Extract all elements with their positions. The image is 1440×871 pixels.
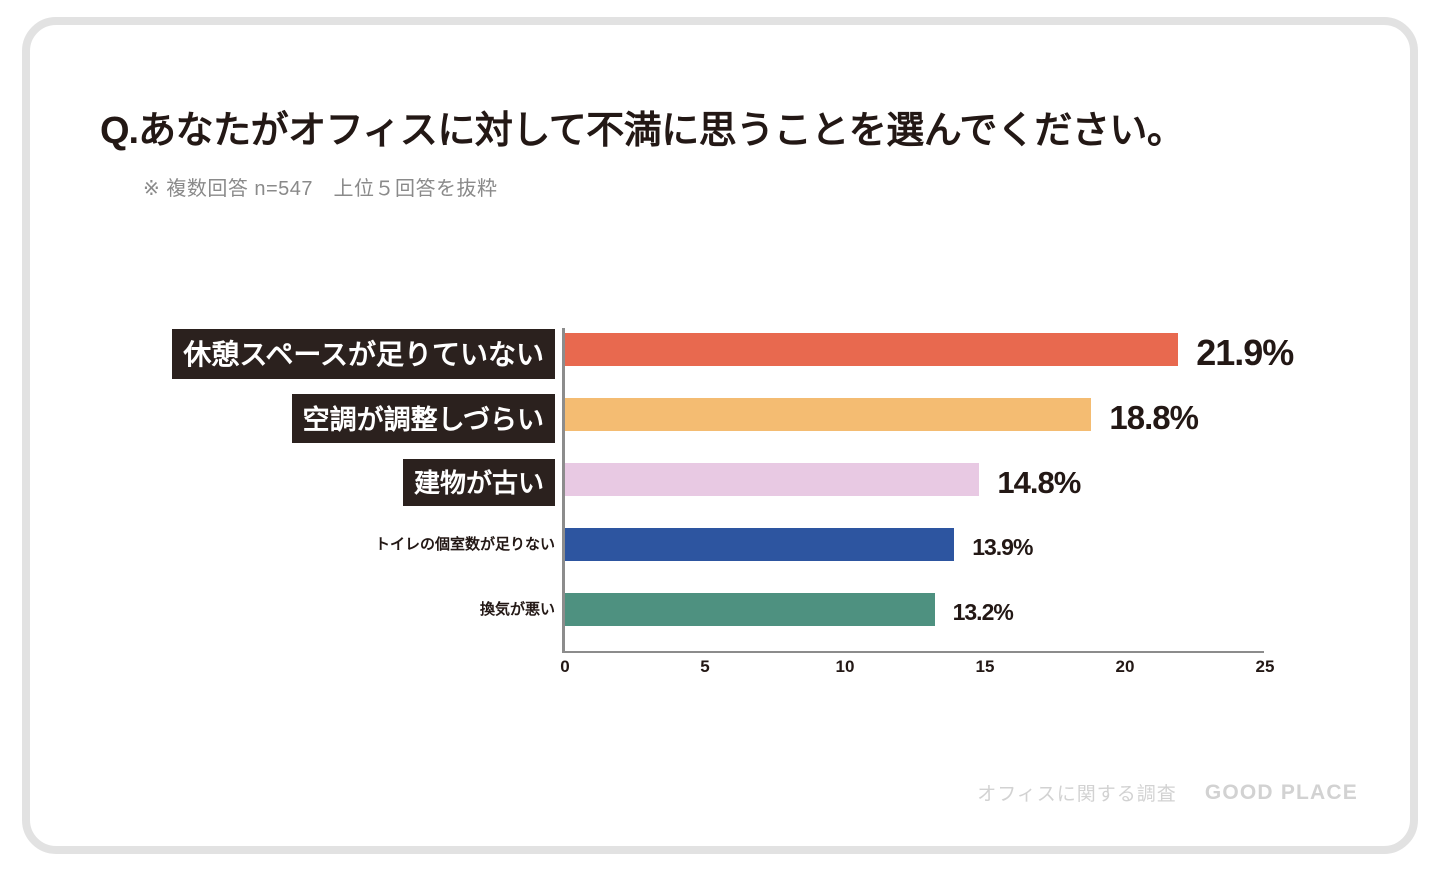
bar-category-label-wrap: 空調が調整しづらい	[30, 393, 555, 437]
bar-segment	[565, 333, 1178, 366]
footer-survey-name: オフィスに関する調査	[977, 779, 1177, 806]
bar-category-label: 換気が悪い	[480, 598, 555, 619]
bar-row: トイレの個室数が足りない13.9%	[30, 523, 1410, 567]
x-tick-label: 10	[836, 657, 855, 677]
bar-segment	[565, 463, 979, 496]
bar-value-label: 13.9%	[972, 534, 1032, 561]
x-tick-label: 0	[560, 657, 569, 677]
x-tick-label: 15	[976, 657, 995, 677]
bar-segment	[565, 398, 1091, 431]
bar-category-label-wrap: トイレの個室数が足りない	[30, 523, 555, 567]
slide-card: Q.あなたがオフィスに対して不満に思うことを選んでください。 ※ 複数回答 n=…	[22, 17, 1418, 854]
bar-value-label: 13.2%	[953, 599, 1013, 626]
bar-row: 空調が調整しづらい18.8%	[30, 393, 1410, 437]
x-tick-label: 5	[700, 657, 709, 677]
bar-value-label: 18.8%	[1109, 399, 1198, 437]
bar-category-label-wrap: 休憩スペースが足りていない	[30, 328, 555, 372]
bar-category-label-wrap: 建物が古い	[30, 458, 555, 502]
x-tick-label: 20	[1116, 657, 1135, 677]
bar-chart: 休憩スペースが足りていない21.9%空調が調整しづらい18.8%建物が古い14.…	[30, 25, 1410, 862]
bar-row: 建物が古い14.8%	[30, 458, 1410, 502]
bar-category-label-wrap: 換気が悪い	[30, 588, 555, 632]
bar-row: 換気が悪い13.2%	[30, 588, 1410, 632]
bar-segment	[565, 593, 935, 626]
bar-category-label: 休憩スペースが足りていない	[172, 329, 555, 379]
x-tick-label: 25	[1256, 657, 1275, 677]
bar-category-label: 空調が調整しづらい	[292, 394, 555, 443]
bar-category-label: トイレの個室数が足りない	[375, 533, 555, 554]
footer-brand-logo: GOOD PLACE	[1205, 781, 1358, 805]
bar-segment	[565, 528, 954, 561]
x-axis-line	[562, 651, 1264, 653]
bar-row: 休憩スペースが足りていない21.9%	[30, 328, 1410, 372]
footer: オフィスに関する調査 GOOD PLACE	[977, 779, 1358, 806]
bar-value-label: 21.9%	[1196, 332, 1293, 374]
bar-value-label: 14.8%	[997, 465, 1080, 501]
bar-category-label: 建物が古い	[403, 459, 555, 506]
